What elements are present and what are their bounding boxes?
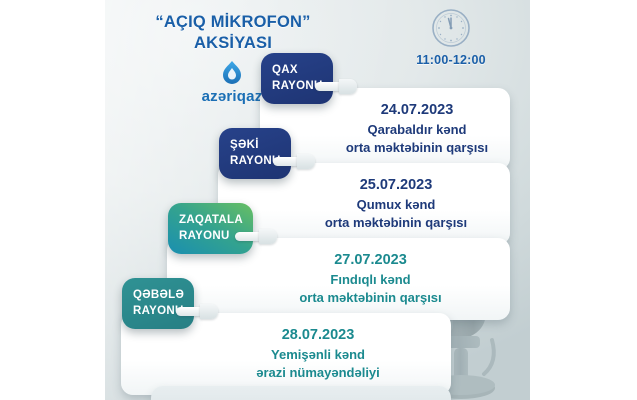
- card-line-2: ərazi nümayəndəliyi: [195, 364, 441, 382]
- card-line-2: orta məktəbinin qarşısı: [241, 289, 500, 307]
- page-title: “AÇIQ MİKROFON” AKSİYASI: [113, 12, 353, 54]
- district-tag-zaqatala[interactable]: ZAQATALA RAYONU: [168, 203, 253, 254]
- connector-plug-icon: [273, 154, 315, 169]
- connector-plug-icon: [235, 229, 277, 244]
- card-line-1: Qumux kənd: [292, 196, 500, 214]
- poster-canvas: “AÇIQ MİKROFON” AKSİYASI azəriqaz: [105, 0, 530, 400]
- card-date: 27.07.2023: [241, 250, 500, 271]
- card-date: 24.07.2023: [334, 100, 500, 121]
- district-tag-line1: ŞƏKİ: [230, 137, 281, 153]
- district-tag-line1: QƏBƏLƏ: [133, 287, 184, 303]
- poster-stage: “AÇIQ MİKROFON” AKSİYASI azəriqaz: [0, 0, 637, 400]
- district-tag-qax[interactable]: QAX RAYONU: [261, 53, 333, 104]
- time-block: 11:00-12:00: [393, 8, 509, 67]
- clock-icon: [431, 8, 471, 48]
- card-line-1: Fındıqlı kənd: [241, 271, 500, 289]
- district-tag-qebele[interactable]: QƏBƏLƏ RAYONU: [122, 278, 194, 329]
- district-tag-line1: QAX: [272, 62, 323, 78]
- page-title-line1: “AÇIQ MİKROFON”: [155, 13, 310, 31]
- connector-plug-icon: [315, 79, 357, 94]
- flame-icon: [220, 60, 244, 86]
- district-tag-seki[interactable]: ŞƏKİ RAYONU: [219, 128, 291, 179]
- connector-plug-icon: [176, 304, 218, 319]
- district-tag-line2: RAYONU: [179, 228, 243, 244]
- card-line-1: Yemişənli kənd: [195, 346, 441, 364]
- card-line-2: orta məktəbinin qarşısı: [334, 139, 500, 157]
- schedule-card-next-partial[interactable]: [151, 386, 451, 400]
- card-date: 25.07.2023: [292, 175, 500, 196]
- card-date: 28.07.2023: [195, 325, 441, 346]
- district-tag-line1: ZAQATALA: [179, 212, 243, 228]
- card-line-2: orta məktəbinin qarşısı: [292, 214, 500, 232]
- time-label: 11:00-12:00: [393, 53, 509, 67]
- card-line-1: Qarabaldır kənd: [334, 121, 500, 139]
- page-title-line2: AKSİYASI: [194, 34, 272, 52]
